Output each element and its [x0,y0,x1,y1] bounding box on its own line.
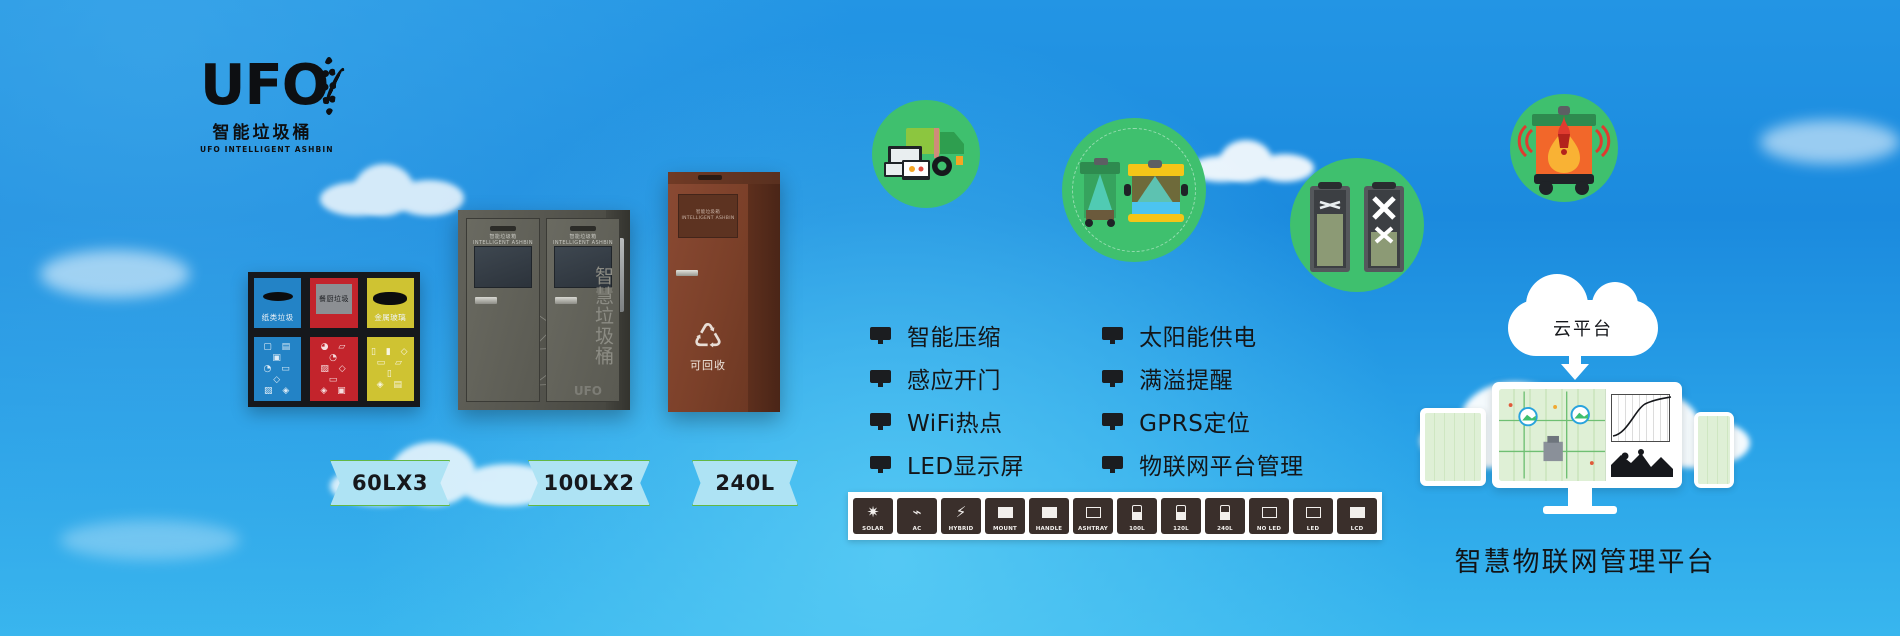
spec-label: HYBRID [949,526,974,532]
monitor-icon [870,370,891,387]
fill-level-sensor-icon [1062,118,1206,262]
monitor-icon [870,327,891,344]
product-tri-bin: 纸类垃圾 ▢ ▤ ▣◔ ▭ ◇▨ ◈ 餐厨垃圾 ◕ ▱ ◔▨ ◇ ▭◈ ▣ 金属… [248,272,420,407]
feature-label: GPRS定位 [1139,404,1250,438]
iot-platform-illustration: 云平台 [1420,300,1740,530]
bin-capacity-icon [1220,498,1230,526]
feature-list: 智能压缩 感应开门 WiFi热点 LED显示屏 太阳能供电 满溢提醒 [870,318,1304,481]
door-handle-icon [555,297,577,304]
feature-label: 物联网平台管理 [1139,447,1304,481]
bin-capacity-icon [1176,498,1186,526]
oval-slot-icon [263,292,293,301]
door-handle-icon [676,270,698,276]
led-strip-icon [490,226,516,231]
spec-icon-120l: 120L [1161,498,1201,534]
spec-icon-mount: MOUNT [985,498,1025,534]
spec-label: SOLAR [862,526,884,532]
product-single-bin: 智能垃圾箱 INTELLIGENT ASHBIN ♺ 可回收 [668,172,780,412]
feature-item: GPRS定位 [1102,404,1304,438]
bin-vertical-text: 智慧垃圾桶 [592,266,614,366]
mount-icon [998,498,1013,526]
display-screen [474,246,532,288]
sun-icon: ✷ [867,498,880,526]
recycle-label: 可回收 [684,357,732,373]
phone-device [1694,412,1734,488]
feature-item: WiFi热点 [870,404,1024,438]
spec-icon-led: LED [1293,498,1333,534]
bin-compartment-kitchen: 餐厨垃圾 ◕ ▱ ◔▨ ◇ ▭◈ ▣ [307,275,360,404]
handle-icon [1042,498,1057,526]
feature-label: LED显示屏 [907,447,1024,481]
spec-icon-ashtray: ASHTRAY [1073,498,1113,534]
fire-alarm-icon [1510,94,1618,202]
spec-icon-ac: ⌁ AC [897,498,937,534]
product-duo-smart-bin: 智能垃圾箱 INTELLIGENT ASHBIN 智能垃圾箱 INTELLIGE… [458,210,630,410]
bin-door-left: 智能垃圾箱 INTELLIGENT ASHBIN [466,218,540,402]
promo-banner: UFO 智能垃圾桶 UFO INTELLIGENT ASHBIN 纸类垃圾 ▢ … [0,0,1900,636]
feature-label: 满溢提醒 [1139,361,1233,395]
waste-illustration: ◕ ▱ ◔▨ ◇ ▭◈ ▣ [310,338,357,401]
capacity-ribbon-240l: 240L [692,460,798,506]
monitor-icon [1102,413,1123,430]
tablet-device [1420,408,1486,486]
spec-label: NO LED [1257,526,1281,532]
cloud-decor [1760,120,1900,164]
display-screen: 智能垃圾箱 INTELLIGENT ASHBIN [678,194,738,238]
monitor-device [1492,382,1682,488]
spec-icon-240l: 240L [1205,498,1245,534]
bin-top-cap [668,172,780,184]
bin-side-panel [748,172,780,412]
bin-logo-mark: UFO [574,384,602,398]
recycle-icon: ♺ [684,320,732,354]
feature-item: 太阳能供电 [1102,318,1304,352]
bin-capacity-icon [1132,498,1142,526]
spec-label: 100L [1129,526,1145,532]
logo-name-en: UFO INTELLIGENT ASHBIN [200,145,325,154]
feature-label: 智能压缩 [907,318,1001,352]
platform-title: 智慧物联网管理平台 [1395,540,1775,579]
spec-icon-solar: ✷ SOLAR [853,498,893,534]
logo-wordmark-row: UFO [200,55,325,117]
monitor-screen [1499,389,1675,481]
no-led-icon [1262,498,1277,526]
led-icon [1306,498,1321,526]
spec-icon-strip: ✷ SOLAR ⌁ AC ⚡ HYBRID MOUNT HANDLE ASHTR… [848,492,1382,540]
map-panel [1499,389,1605,481]
led-strip-icon [570,226,596,231]
spec-label: 120L [1173,526,1189,532]
door-handle-icon [475,297,497,304]
compartment-label: 金属玻璃 [367,312,414,323]
recycle-mark: ♺ 可回收 [684,320,732,373]
compartment-label: 餐厨垃圾 [319,294,349,304]
feature-item: 满溢提醒 [1102,361,1304,395]
compaction-compare-icon [1290,158,1424,292]
plug-icon: ⌁ [912,498,921,526]
logo-wordmark: UFO [200,58,328,114]
ufo-ring-icon [322,57,325,115]
monitor-icon [870,456,891,473]
monitor-icon [870,413,891,430]
fleet-monitoring-icon [872,100,980,208]
capacity-ribbon-60lx3: 60LX3 [330,460,450,506]
waste-illustration: ▯ ▮ ◇▭ ▱ ▯◈ ▤ [367,343,414,395]
cloud-platform-badge: 云平台 [1508,300,1658,356]
lightning-circle-icon: ⚡ [956,498,967,526]
monitor-icon [1102,327,1123,344]
cloud-decor [320,160,480,220]
chart-panel [1605,389,1675,481]
cloud-platform-label: 云平台 [1553,315,1613,341]
monitor-icon [1102,370,1123,387]
spec-label: AC [913,526,922,532]
feature-label: WiFi热点 [907,404,1003,438]
cloud-decor [40,250,190,298]
cloud-decor [60,520,240,560]
spec-label: ASHTRAY [1078,526,1108,532]
panel-slot-icon: 餐厨垃圾 [316,284,351,314]
feature-label: 太阳能供电 [1139,318,1257,352]
led-strip-icon [698,175,722,180]
panel-caption: 智能垃圾箱 INTELLIGENT ASHBIN [471,234,535,246]
bin-front-panel: 智能垃圾箱 INTELLIGENT ASHBIN ♺ 可回收 [668,172,748,412]
panel-caption: 智能垃圾箱 INTELLIGENT ASHBIN [679,210,737,222]
logo-name-cn: 智能垃圾桶 [200,118,325,143]
bin-compartment-metal-glass: 金属玻璃 ▯ ▮ ◇▭ ▱ ▯◈ ▤ [364,275,417,404]
spec-icon-no-led: NO LED [1249,498,1289,534]
cloud-slot-icon [373,292,407,305]
spec-icon-100l: 100L [1117,498,1157,534]
spec-label: LED [1307,526,1319,532]
feature-label: 感应开门 [907,361,1001,395]
bin-compartment-paper: 纸类垃圾 ▢ ▤ ▣◔ ▭ ◇▨ ◈ [251,275,304,404]
feature-item: 感应开门 [870,361,1024,395]
spec-label: 240L [1217,526,1233,532]
spec-label: MOUNT [993,526,1017,532]
capacity-ribbon-100lx2: 100LX2 [528,460,650,506]
spec-label: LCD [1351,526,1364,532]
feature-column-left: 智能压缩 感应开门 WiFi热点 LED显示屏 [870,318,1024,481]
compartment-label: 纸类垃圾 [254,312,301,323]
feature-item: 物联网平台管理 [1102,447,1304,481]
feature-item: 智能压缩 [870,318,1024,352]
feature-column-right: 太阳能供电 满溢提醒 GPRS定位 物联网平台管理 [1102,318,1304,481]
spec-icon-hybrid: ⚡ HYBRID [941,498,981,534]
panel-caption: 智能垃圾箱 INTELLIGENT ASHBIN [551,234,615,246]
spec-label: HANDLE [1036,526,1063,532]
tablet-screen [1425,413,1481,481]
spec-icon-handle: HANDLE [1029,498,1069,534]
spec-icon-lcd: LCD [1337,498,1377,534]
phone-screen [1698,416,1730,484]
monitor-stand [1568,488,1592,508]
lcd-icon [1350,498,1365,526]
ashtray-icon [1086,498,1101,526]
monitor-icon [1102,456,1123,473]
feature-item: LED显示屏 [870,447,1024,481]
monitor-base [1543,506,1617,514]
brand-logo: UFO 智能垃圾桶 UFO INTELLIGENT ASHBIN [200,55,325,154]
waste-illustration: ▢ ▤ ▣◔ ▭ ◇▨ ◈ [254,338,301,401]
